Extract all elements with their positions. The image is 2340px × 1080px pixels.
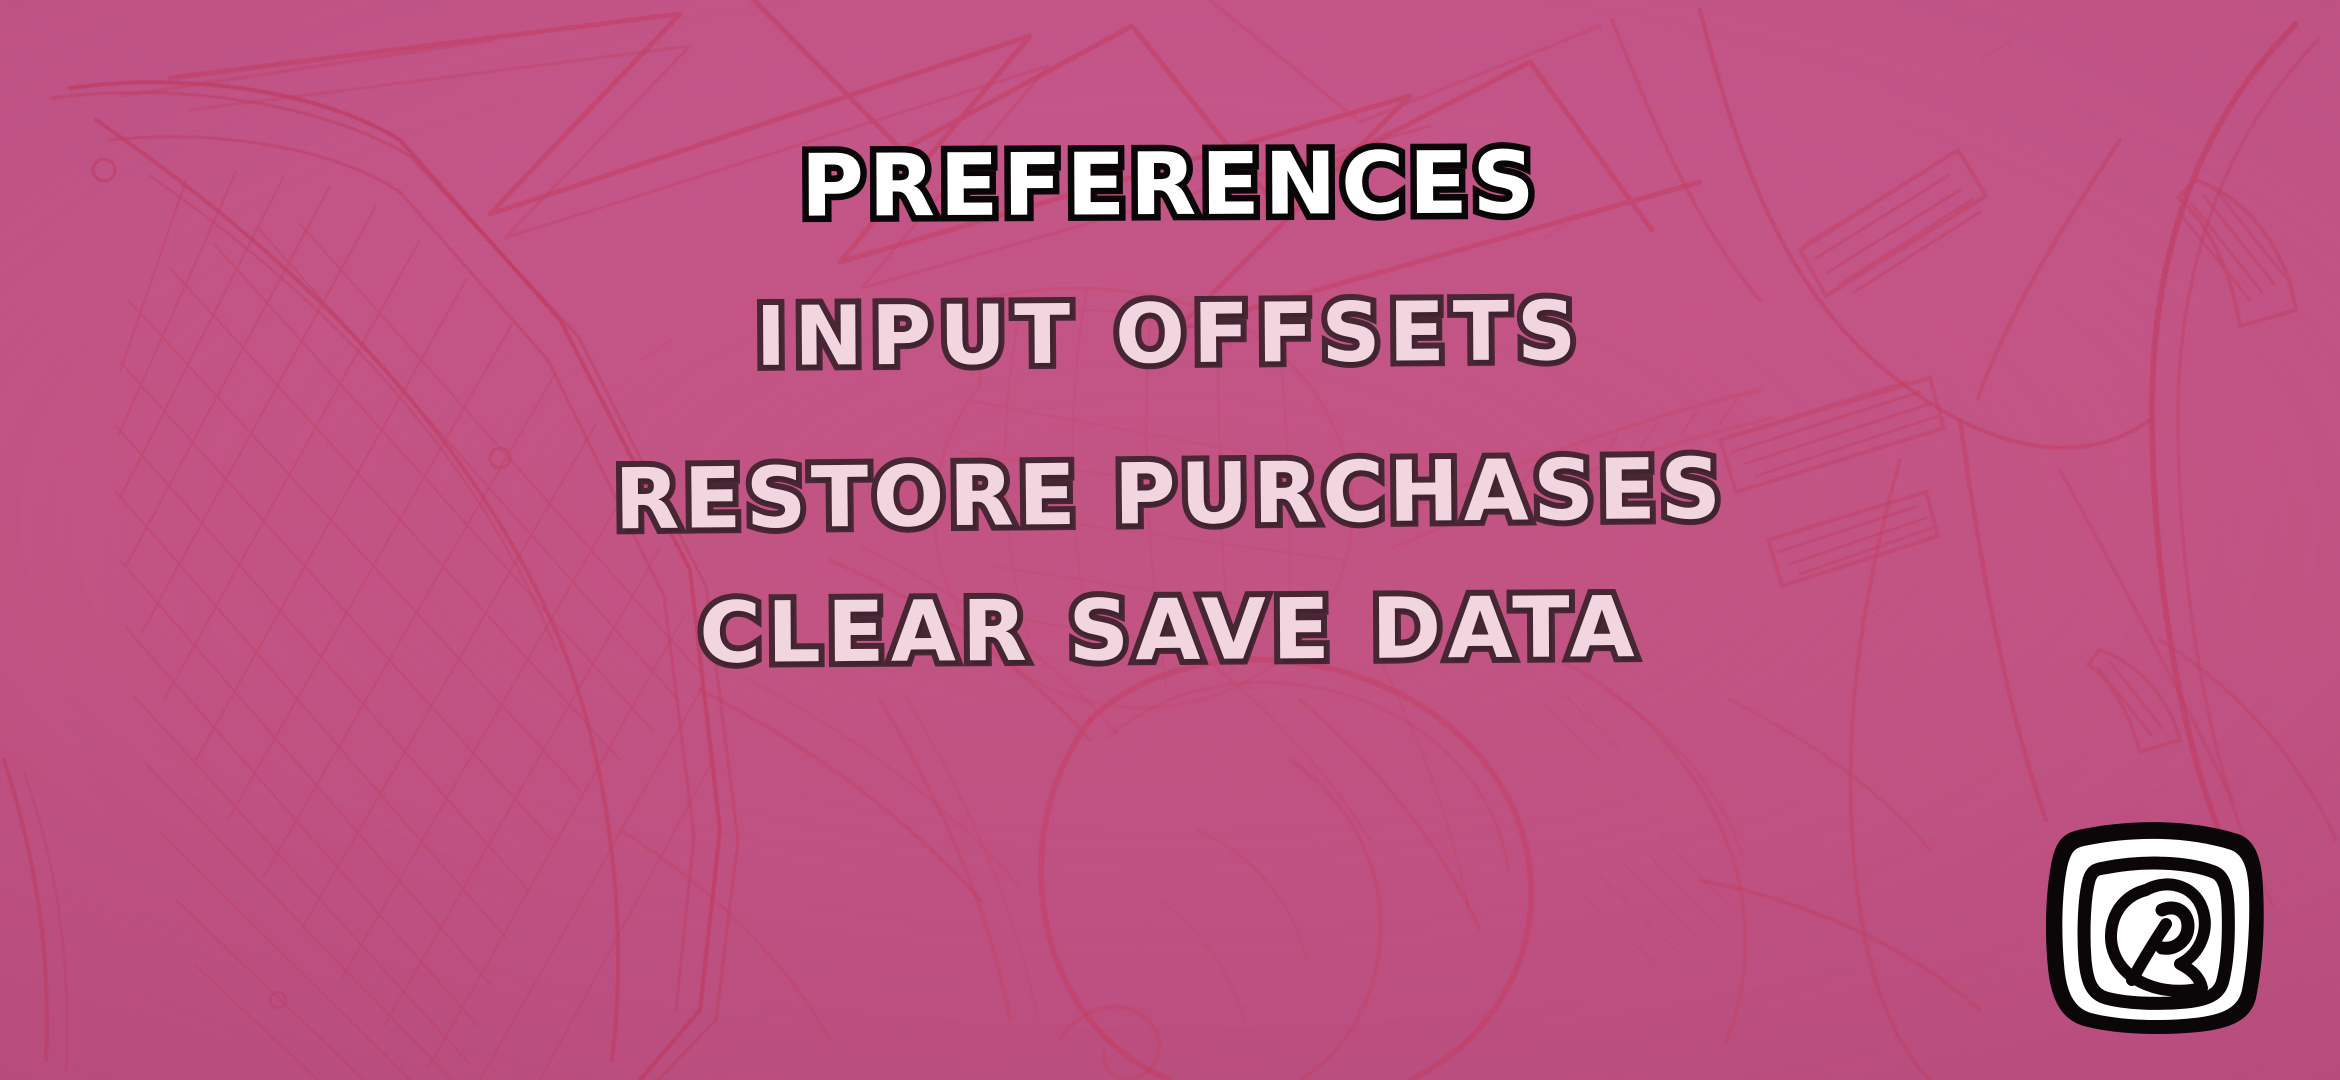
menu-item-restore-purchases[interactable]: RESTORE PURCHASES [614,447,1726,542]
menu-item-clear-save-data[interactable]: CLEAR SAVE DATA [699,585,1641,675]
menu-item-input-offsets[interactable]: INPUT OFFSETS [755,291,1584,379]
logo-glyph [2042,812,2268,1038]
spiral-in-rounded-square-logo-icon[interactable] [2042,812,2268,1038]
preferences-screen: PREFERENCES INPUT OFFSETS RESTORE PURCHA… [0,0,2340,1080]
page-title: PREFERENCES [801,140,1540,229]
